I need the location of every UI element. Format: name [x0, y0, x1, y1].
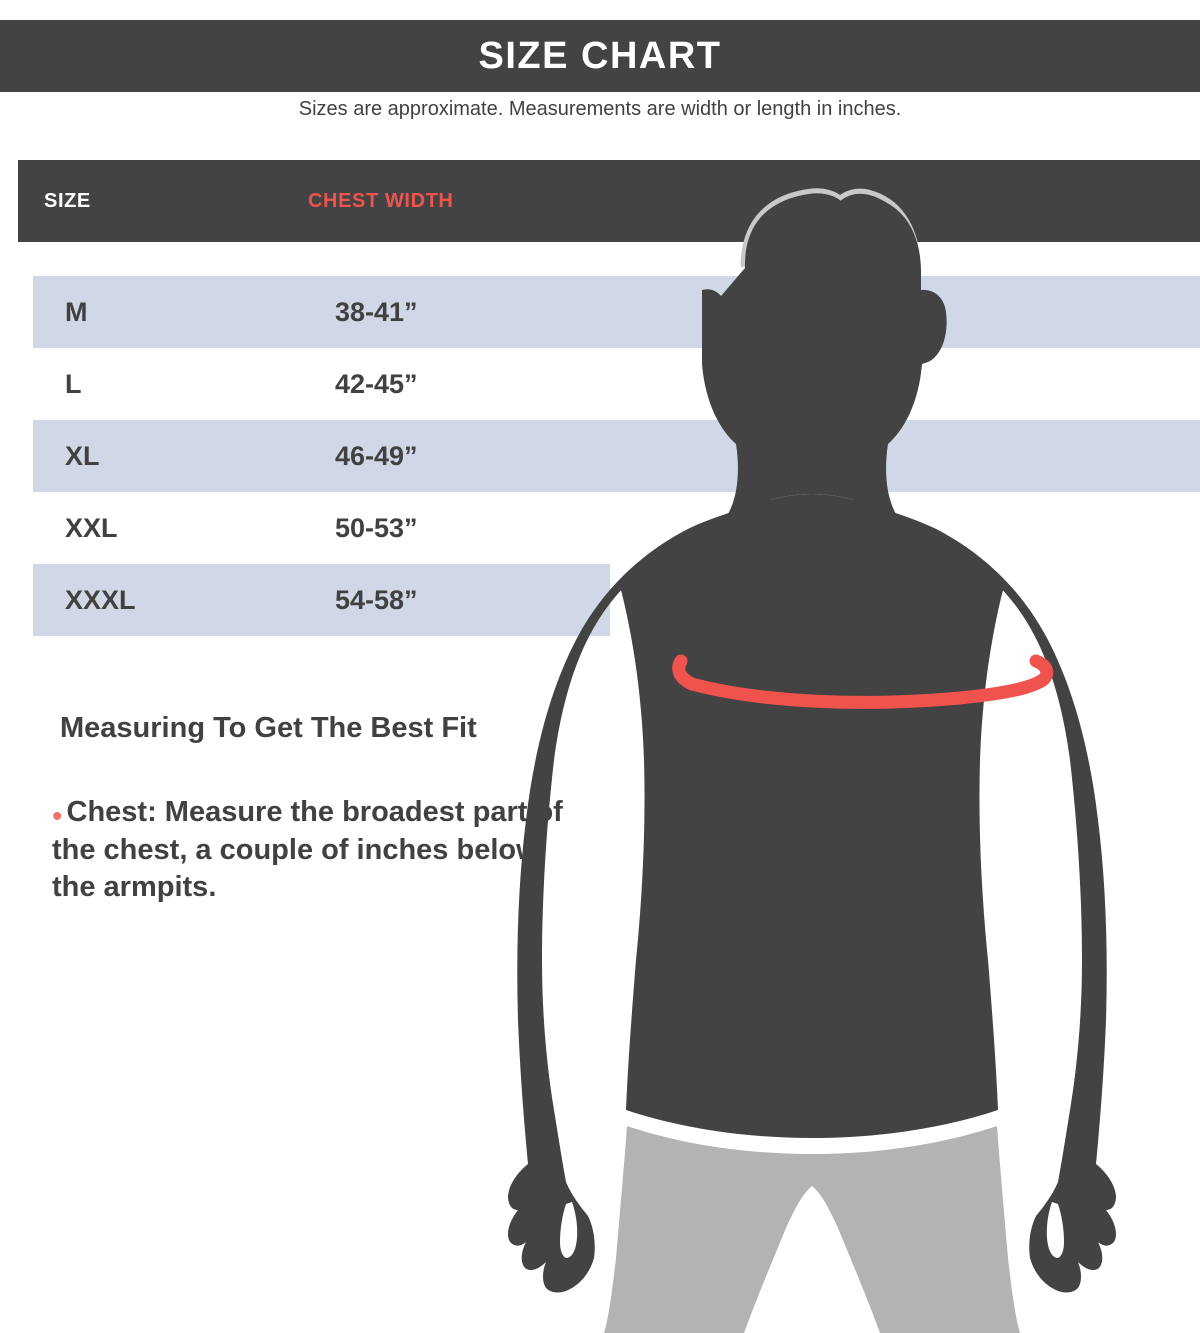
- cell-chest: 54-58”: [335, 564, 418, 636]
- cell-chest: 38-41”: [335, 276, 418, 348]
- cell-chest: 46-49”: [335, 420, 418, 492]
- table-row: XXL 50-53”: [33, 492, 1200, 564]
- bullet-dot-icon: •: [52, 800, 63, 833]
- shorts: [604, 1126, 1020, 1333]
- cell-size: M: [65, 276, 88, 348]
- cell-size: XXL: [65, 492, 118, 564]
- table-row: XL 46-49”: [33, 420, 1200, 492]
- table-row: M 38-41”: [33, 276, 1200, 348]
- torso-shirt: [620, 494, 1004, 1138]
- measuring-bullet-item: •Chest: Measure the broadest part of the…: [52, 794, 582, 906]
- cell-chest: 42-45”: [335, 348, 418, 420]
- page-title: SIZE CHART: [479, 35, 722, 78]
- cell-size: XL: [65, 420, 100, 492]
- cell-size: XXXL: [65, 564, 136, 636]
- column-header-chest-width: CHEST WIDTH: [308, 160, 453, 242]
- table-row: XXXL 54-58”: [33, 564, 610, 636]
- cell-size: L: [65, 348, 82, 420]
- chest-measure-arc-underline: [692, 679, 1044, 703]
- measuring-bullet-text: Chest: Measure the broadest part of the …: [52, 796, 563, 903]
- left-hand-thumb-gap: [560, 1202, 577, 1258]
- chest-measure-arc: [679, 661, 1047, 702]
- table-header-row: SIZE CHEST WIDTH: [18, 160, 1200, 242]
- subtitle-text: Sizes are approximate. Measurements are …: [0, 98, 1200, 121]
- left-arm-gap: [592, 784, 628, 1180]
- measuring-heading: Measuring To Get The Best Fit: [60, 712, 477, 745]
- right-hand-thumb-gap: [1047, 1202, 1064, 1258]
- cell-chest: 50-53”: [335, 492, 418, 564]
- right-arm-gap: [996, 784, 1032, 1180]
- size-chart-title-bar: SIZE CHART: [0, 20, 1200, 92]
- column-header-size: SIZE: [44, 160, 91, 242]
- table-row: L 42-45”: [33, 348, 1200, 420]
